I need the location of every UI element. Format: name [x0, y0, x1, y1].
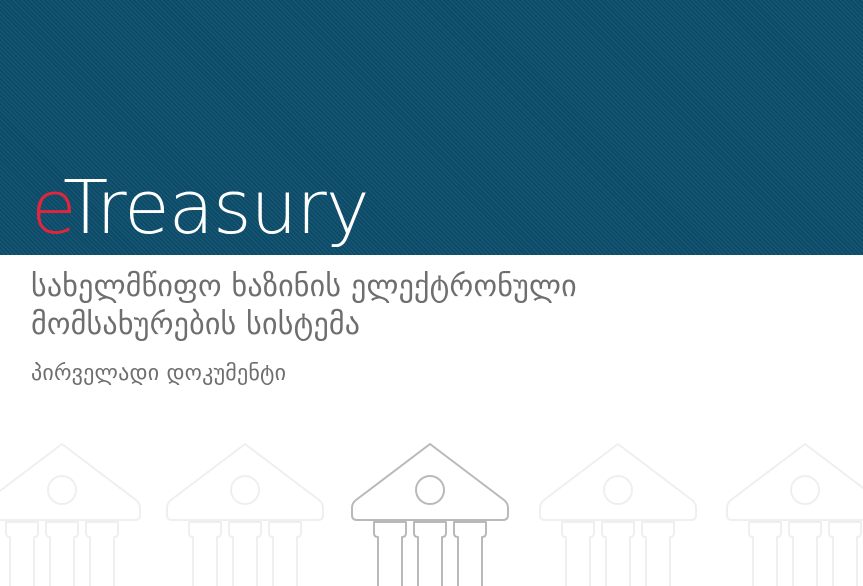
- building-decoration-row: [0, 438, 863, 586]
- page-subtitle: პირველადი დოკუმენტი: [31, 361, 286, 387]
- bank-building-icon: [0, 438, 142, 586]
- bank-building-icon: [165, 438, 325, 586]
- page-title: სახელმწიფო ხაზინის ელექტრონული მომსახურე…: [31, 268, 791, 345]
- bank-building-icon: [725, 438, 863, 586]
- bank-building-icon: [538, 438, 698, 586]
- title-block: სახელმწიფო ხაზინის ელექტრონული მომსახურე…: [31, 268, 791, 345]
- bank-building-icon-highlighted: [350, 438, 510, 586]
- brand-name: Treasury: [63, 165, 369, 251]
- header-banner: eTreasury: [0, 0, 863, 255]
- brand-logo: eTreasury: [31, 171, 369, 245]
- cover-page: eTreasury სახელმწიფო ხაზინის ელექტრონული…: [0, 0, 863, 586]
- brand-accent-letter: e: [31, 165, 63, 251]
